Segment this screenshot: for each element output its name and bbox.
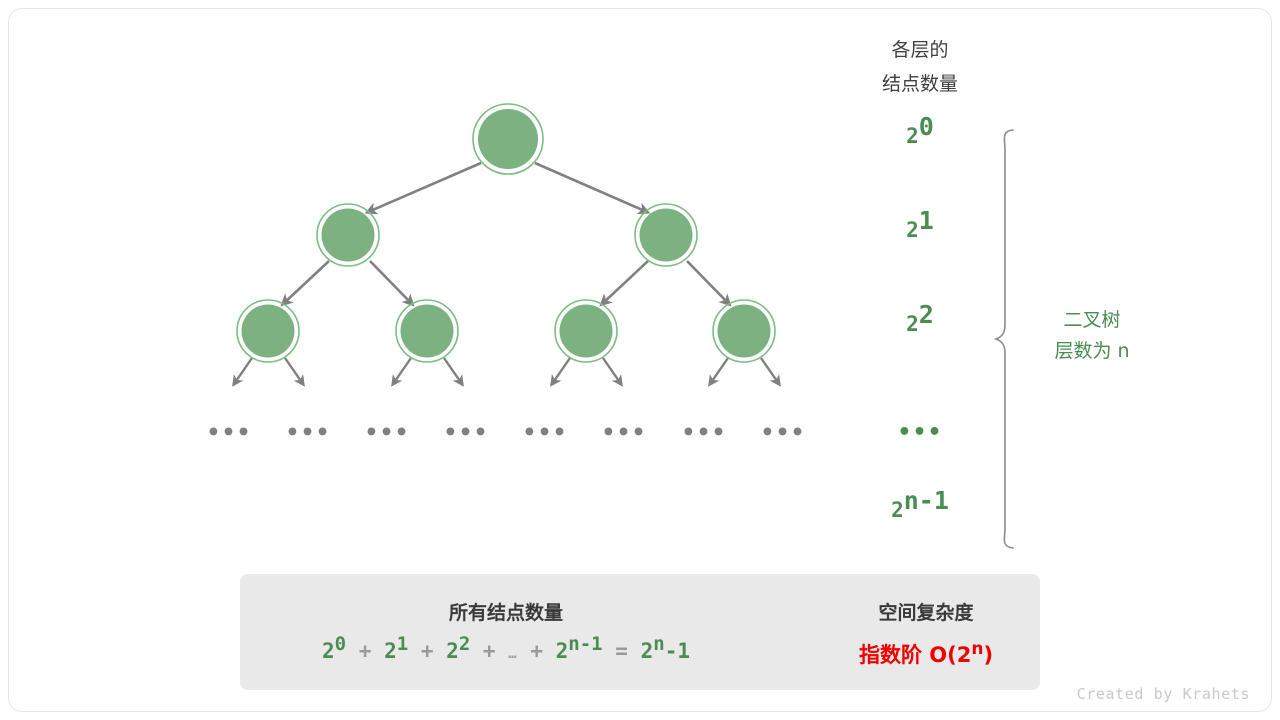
tree-node-l2b (396, 300, 458, 362)
level-count-1: 21 (830, 218, 1010, 242)
tree-leaf-dots: ••• (364, 421, 409, 446)
tree-node-l1b (635, 204, 697, 266)
summary-left-title: 所有结点数量 (449, 598, 563, 625)
tree-node-l2c (555, 300, 617, 362)
summary-complexity-value: 指数阶 O(2n) (859, 639, 993, 669)
level-count-2-base: 2 (906, 312, 919, 336)
tree-node-l2d (713, 300, 775, 362)
formula-term-3: 2n-1 (556, 639, 603, 663)
summary-formula: 20 + 21 + 22 + … + 2n-1 = 2n-1 (322, 639, 690, 663)
formula-equals: = (615, 639, 628, 663)
formula-term-2: 22 (446, 639, 470, 663)
tree-leaf-dots: ••• (681, 421, 726, 446)
tree-node-root (473, 104, 543, 174)
level-count-last-base: 2 (891, 498, 904, 522)
level-count-last: 2n-1 (830, 498, 1010, 522)
tree-leaf-dots: ••• (285, 421, 330, 446)
column-caption-line2: 结点数量 (810, 67, 1030, 101)
complexity-exp: n (971, 639, 983, 659)
tree-nodes (237, 104, 775, 362)
tree-node-l2a (237, 300, 299, 362)
complexity-prefix: 指数阶 O(2 (859, 643, 971, 667)
level-count-2-exp: 2 (919, 300, 934, 329)
tree-node-l1a (317, 204, 379, 266)
level-count-1-base: 2 (906, 218, 919, 242)
level-count-0: 20 (830, 124, 1010, 148)
tree-leaf-dots: ••• (443, 421, 488, 446)
formula-plus-3: + (530, 639, 543, 663)
tree-leaf-dots: ••• (522, 421, 567, 446)
tree-edges-level-0 (368, 163, 647, 212)
tree-leaf-dots: ••• (760, 421, 805, 446)
level-count-0-base: 2 (906, 124, 919, 148)
level-count-last-exp: n-1 (904, 486, 949, 515)
level-count-1-exp: 1 (919, 206, 934, 235)
formula-term-0: 20 (322, 639, 346, 663)
formula-result: 2n-1 (641, 639, 690, 663)
formula-ellipsis: … (508, 646, 517, 662)
column-caption-line1: 各层的 (810, 33, 1030, 67)
level-count-ellipsis: ••• (830, 420, 1010, 445)
summary-box (240, 574, 1040, 690)
complexity-suffix: ) (983, 643, 993, 667)
tree-leaf-dots: ••• (601, 421, 646, 446)
tree-edges-level-2 (234, 358, 779, 384)
brace-label-line1: 二叉树 (982, 305, 1202, 336)
formula-plus-0: + (359, 639, 372, 663)
level-count-0-exp: 0 (919, 112, 934, 141)
watermark: Created by Krahets (1077, 685, 1250, 703)
diagram-canvas: 各层的 结点数量 20 21 22 ••• 2n-1 二叉树 层数为 n •••… (0, 0, 1280, 720)
tree-edges-level-1 (283, 261, 729, 304)
summary-right-title: 空间复杂度 (878, 598, 973, 625)
brace-label-line2: 层数为 n (982, 336, 1202, 367)
formula-term-1: 21 (384, 639, 408, 663)
formula-plus-1: + (421, 639, 434, 663)
formula-plus-2: + (483, 639, 496, 663)
tree-leaf-dots: ••• (206, 421, 251, 446)
